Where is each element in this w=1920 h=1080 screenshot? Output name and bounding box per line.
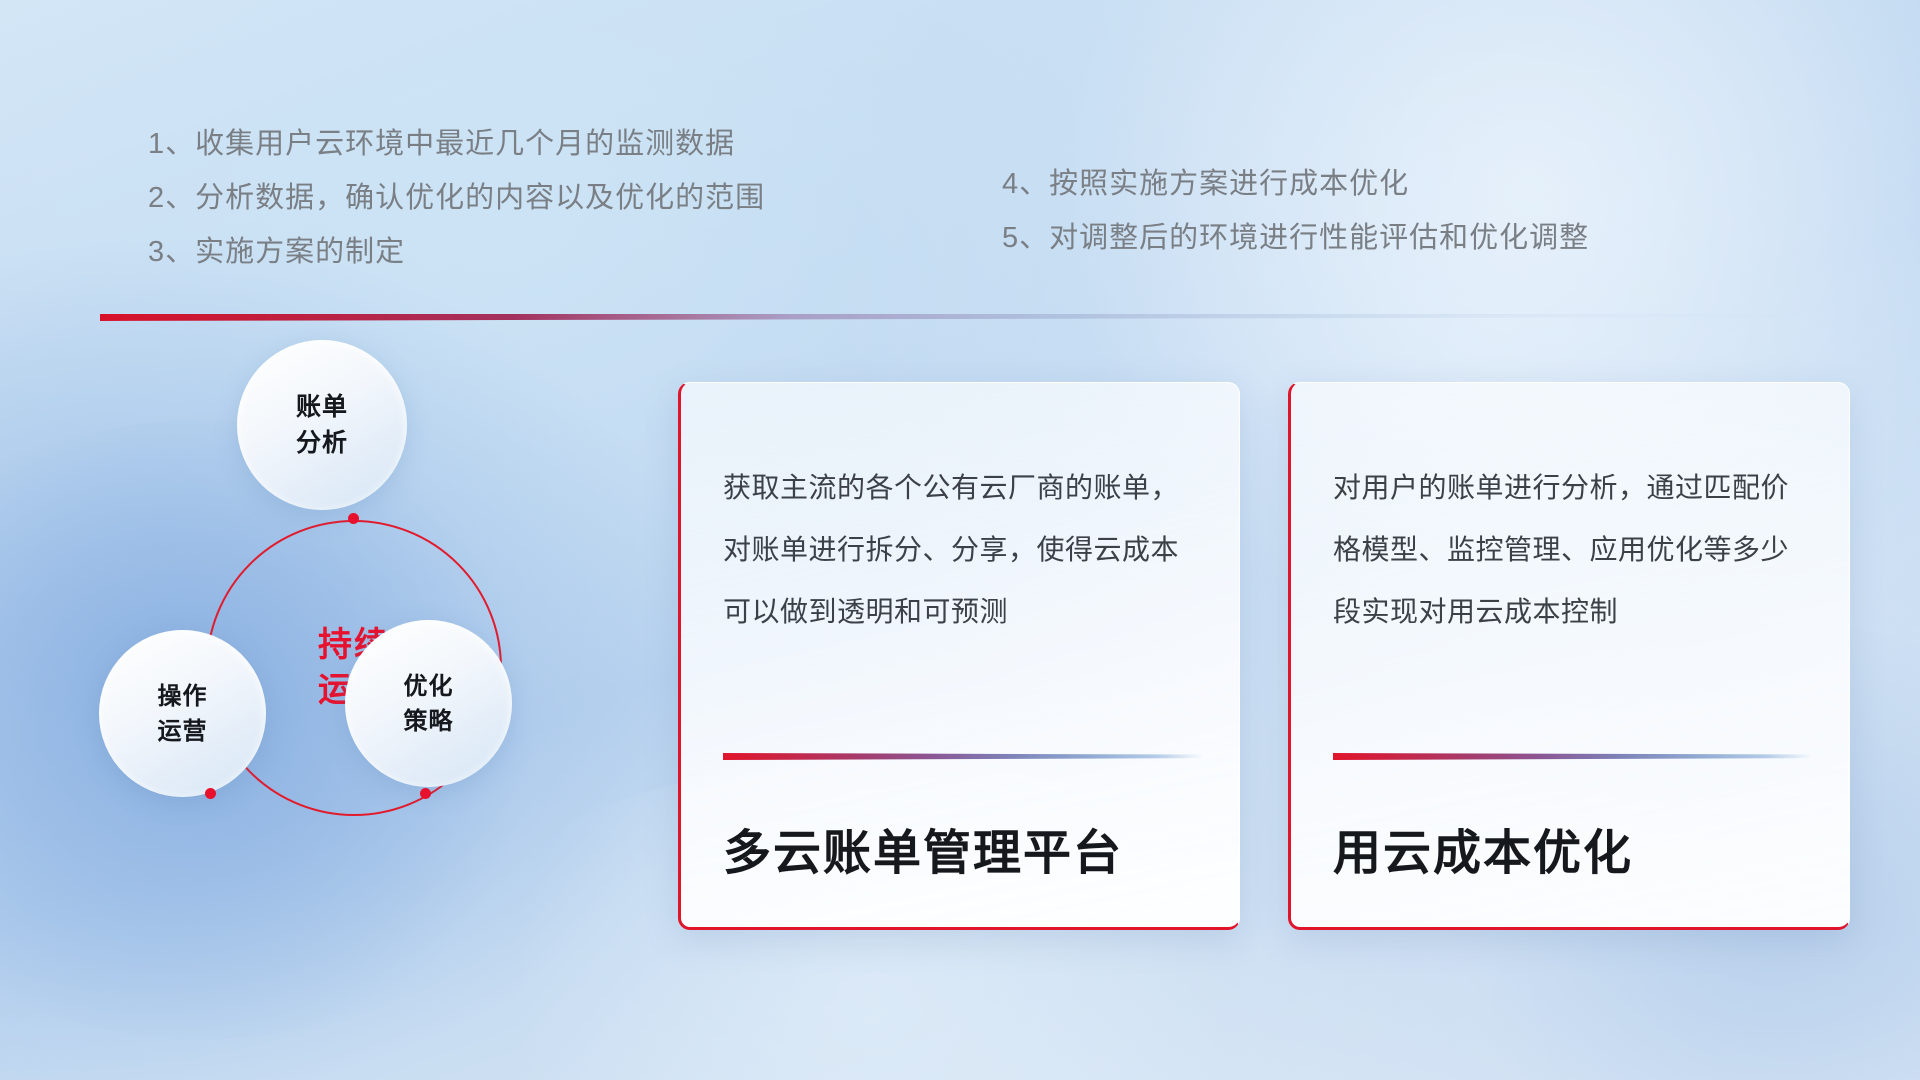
- node-label-line2: 分析: [296, 425, 348, 461]
- card-divider: [723, 753, 1203, 760]
- node-label-line2: 策略: [404, 704, 454, 739]
- diagram-connector-dot-top: [348, 513, 359, 524]
- diagram-connector-dot-bottom-right: [420, 788, 431, 799]
- diagram-node-bill-analysis[interactable]: 账单 分析: [237, 340, 407, 510]
- diagram-connector-dot-bottom-left: [205, 788, 216, 799]
- feature-card-multicloud-billing[interactable]: 获取主流的各个公有云厂商的账单，对账单进行拆分、分享，使得云成本可以做到透明和可…: [678, 382, 1240, 930]
- diagram-node-optimization-strategy[interactable]: 优化 策略: [345, 620, 512, 787]
- card-description: 对用户的账单进行分析，通过匹配价格模型、监控管理、应用优化等多少段实现对用云成本…: [1333, 457, 1813, 643]
- node-label-line2: 运营: [158, 714, 208, 749]
- diagram-node-operations[interactable]: 操作 运营: [99, 630, 266, 797]
- feature-card-cost-optimization[interactable]: 对用户的账单进行分析，通过匹配价格模型、监控管理、应用优化等多少段实现对用云成本…: [1288, 382, 1850, 930]
- card-description: 获取主流的各个公有云厂商的账单，对账单进行拆分、分享，使得云成本可以做到透明和可…: [723, 457, 1203, 643]
- step-item-5: 5、对调整后的环境进行性能评估和优化调整: [1002, 211, 1589, 265]
- card-divider: [1333, 753, 1813, 760]
- cycle-diagram: 持续 运营 账单 分析 操作 运营 优化 策略: [95, 340, 635, 940]
- card-title: 多云账单管理平台: [723, 813, 1123, 883]
- node-label-line1: 优化: [404, 669, 454, 704]
- steps-right-column: 4、按照实施方案进行成本优化 5、对调整后的环境进行性能评估和优化调整: [1002, 157, 1589, 265]
- node-label-line1: 账单: [296, 389, 348, 425]
- step-item-2: 2、分析数据，确认优化的内容以及优化的范围: [148, 171, 765, 225]
- node-label-line1: 操作: [158, 679, 208, 714]
- header-divider: [100, 314, 1825, 321]
- step-item-4: 4、按照实施方案进行成本优化: [1002, 157, 1589, 211]
- step-item-3: 3、实施方案的制定: [148, 225, 765, 279]
- steps-left-column: 1、收集用户云环境中最近几个月的监测数据 2、分析数据，确认优化的内容以及优化的…: [148, 117, 765, 279]
- step-item-1: 1、收集用户云环境中最近几个月的监测数据: [148, 117, 765, 171]
- slide-canvas: 1、收集用户云环境中最近几个月的监测数据 2、分析数据，确认优化的内容以及优化的…: [0, 0, 1920, 1080]
- card-title: 用云成本优化: [1333, 813, 1633, 883]
